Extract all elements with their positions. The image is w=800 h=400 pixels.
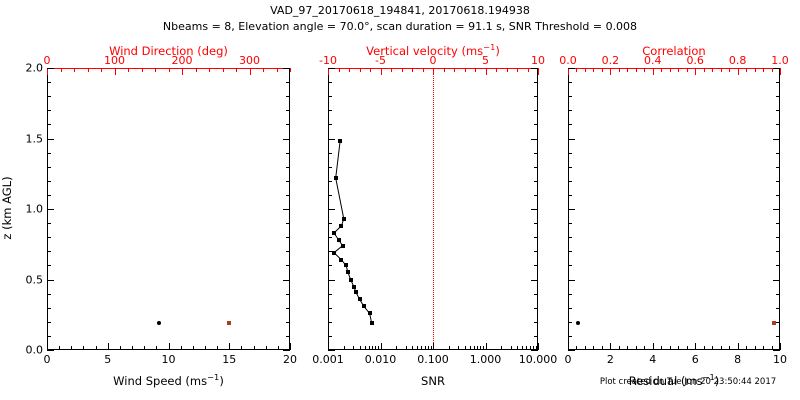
panel-snr bbox=[328, 68, 538, 350]
axis-tick-label: 10 bbox=[773, 353, 787, 366]
y-axis-tick-label: 2.0 bbox=[12, 62, 43, 75]
axis-tick-label: 8 bbox=[734, 353, 741, 366]
data-point bbox=[157, 321, 161, 325]
y-axis-tick-label: 0.0 bbox=[12, 344, 43, 357]
y-axis-tick-label: 0.5 bbox=[12, 273, 43, 286]
data-point bbox=[352, 285, 356, 289]
panel-residual-frame bbox=[568, 68, 780, 350]
axis-tick-label: 10.000 bbox=[519, 353, 558, 366]
data-point bbox=[576, 321, 580, 325]
data-point bbox=[332, 251, 336, 255]
axis-tick-label: 0.010 bbox=[365, 353, 397, 366]
plot-created-footer: Plot created on Tue Jun 20 23:50:44 2017 bbox=[568, 377, 800, 387]
data-point bbox=[772, 321, 776, 325]
axis-tick-label: 6 bbox=[692, 353, 699, 366]
axis-tick-label: 20 bbox=[283, 353, 297, 366]
data-point bbox=[339, 224, 343, 228]
panel-wind-top-axis-title: Wind Direction (deg) bbox=[47, 44, 290, 58]
data-point bbox=[342, 217, 346, 221]
axis-tick-label: 0.001 bbox=[312, 353, 344, 366]
axis-tick-label: 0 bbox=[44, 353, 51, 366]
axis-tick-label: 15 bbox=[222, 353, 236, 366]
data-point bbox=[370, 321, 374, 325]
data-point bbox=[332, 231, 336, 235]
axis-tick-label: 0 bbox=[565, 353, 572, 366]
y-axis-tick-label: 1.5 bbox=[12, 132, 43, 145]
data-point bbox=[362, 304, 366, 308]
panel-snr-top-axis-title: Vertical velocity (ms−1) bbox=[328, 44, 538, 58]
axis-tick-label: 0.100 bbox=[417, 353, 449, 366]
panel-residual bbox=[568, 68, 780, 350]
data-point bbox=[338, 139, 342, 143]
panel-residual-top-axis-line bbox=[568, 68, 780, 69]
axis-tick-label: 10 bbox=[162, 353, 176, 366]
axis-tick-label: 4 bbox=[649, 353, 656, 366]
panel-residual-top-axis-title: Correlation bbox=[568, 44, 780, 58]
axis-tick-label: 5 bbox=[104, 353, 111, 366]
data-point bbox=[227, 321, 231, 325]
panel-wind-bottom-axis-title: Wind Speed (ms−1) bbox=[47, 374, 290, 388]
data-point bbox=[354, 290, 358, 294]
data-point bbox=[368, 311, 372, 315]
data-point bbox=[358, 297, 362, 301]
panel-wind bbox=[47, 68, 290, 350]
data-point bbox=[346, 270, 350, 274]
data-point bbox=[334, 176, 338, 180]
vad-plot-figure: VAD_97_20170618_194841, 20170618.194938 … bbox=[0, 0, 800, 400]
data-point bbox=[349, 278, 353, 282]
panel-snr-bottom-axis-title: SNR bbox=[328, 374, 538, 388]
data-point bbox=[337, 238, 341, 242]
page-subtitle: Nbeams = 8, Elevation angle = 70.0°, sca… bbox=[0, 20, 800, 33]
data-point bbox=[344, 263, 348, 267]
axis-tick-label: 1.000 bbox=[470, 353, 502, 366]
axis-tick-label: 2 bbox=[607, 353, 614, 366]
data-point bbox=[341, 244, 345, 248]
y-axis-tick-label: 1.0 bbox=[12, 203, 43, 216]
data-point bbox=[339, 258, 343, 262]
page-title: VAD_97_20170618_194841, 20170618.194938 bbox=[0, 4, 800, 17]
panel-wind-frame bbox=[47, 68, 290, 350]
